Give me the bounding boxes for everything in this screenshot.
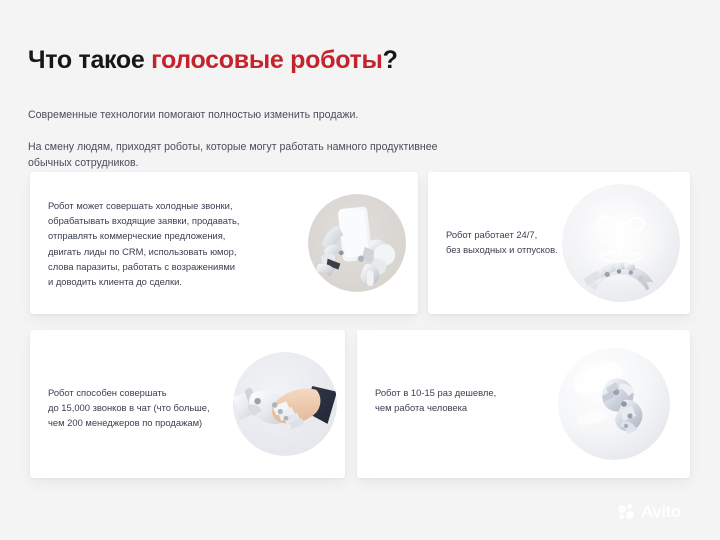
card-text: Робот способен совершать до 15,000 звонк… (48, 385, 263, 431)
page-title-part1: Что такое (28, 46, 151, 74)
page-title-part2: ? (383, 46, 398, 74)
robot-hand-white-sphere-image (558, 348, 670, 460)
card-text: Робот в 10-15 раз дешевле, чем работа че… (375, 385, 565, 415)
lead-paragraph-2: На смену людям, приходят роботы, которые… (28, 139, 448, 172)
robot-hand-holding-sprout-hologram-image (562, 184, 680, 302)
lead-paragraph-1: Современные технологии помогают полность… (28, 107, 498, 123)
robot-hand-holding-smartphone-image (308, 194, 406, 292)
feature-card-24-7[interactable]: Робот работает 24/7, без выходных и отпу… (428, 172, 690, 314)
page-title-accent: голосовые роботы (151, 46, 382, 74)
avito-brand-text: Avito (641, 503, 681, 520)
slide-canvas: Что такое голосовые роботы? Современные … (0, 0, 720, 540)
page-title: Что такое голосовые роботы? (28, 46, 588, 76)
feature-card-cold-calls[interactable]: Робот может совершать холодные звонки, о… (30, 172, 418, 314)
avito-dots-logo (618, 504, 637, 520)
feature-card-cost[interactable]: Робот в 10-15 раз дешевле, чем работа че… (357, 330, 690, 478)
avito-watermark: Avito (618, 503, 681, 520)
feature-card-call-volume[interactable]: Робот способен совершать до 15,000 звонк… (30, 330, 345, 478)
card-text: Робот может совершать холодные звонки, о… (48, 198, 298, 289)
robot-human-handshake-image (233, 352, 337, 456)
header: Что такое голосовые роботы? (28, 46, 588, 76)
